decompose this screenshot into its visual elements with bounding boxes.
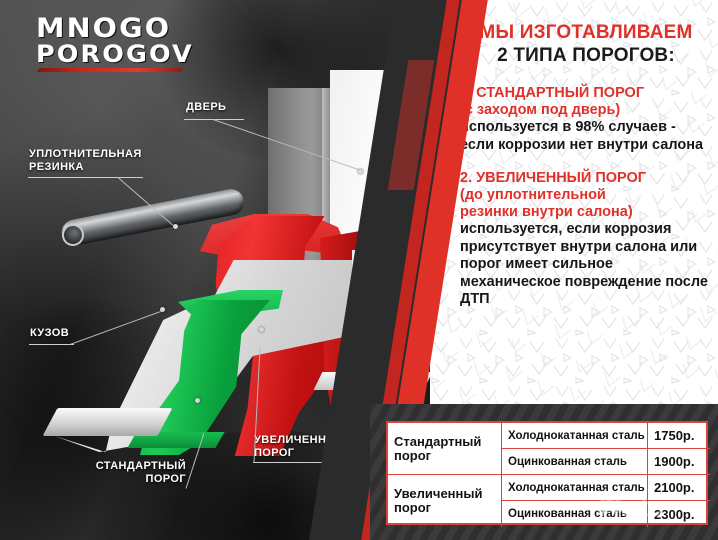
sill-type-block-1: 1. СТАНДАРТНЫЙ ПОРОГ (с заходом под двер… — [460, 85, 712, 154]
callout-body-underline — [29, 344, 74, 345]
price-table-cell-material: Оцинкованная сталь — [502, 449, 648, 475]
price-table-cell-material: Холоднокатанная сталь — [502, 475, 648, 501]
body-lip-shape — [43, 408, 173, 436]
price-table-cell-price: 2100р. — [648, 475, 710, 501]
watermark-dots-icon — [596, 500, 626, 518]
sill-type-1-body: используется в 98% случаев - если корроз… — [460, 119, 712, 154]
price-table: Стандартный порог Холоднокатанная сталь … — [386, 421, 708, 525]
sill-type-1-title: 1. СТАНДАРТНЫЙ ПОРОГ — [460, 85, 712, 102]
price-table-cell-price: 1900р. — [648, 449, 710, 475]
callout-door-label: ДВЕРЬ — [186, 101, 226, 114]
sill-type-1-subtitle: (с заходом под дверь) — [460, 102, 712, 119]
brand-logo-line1: MNOGO — [36, 16, 194, 42]
price-table-row-group-standard-name: Стандартный порог — [388, 423, 502, 475]
price-table-cell-price: 1750р. — [648, 423, 710, 449]
callout-standard-sill-label: СТАНДАРТНЫЙ ПОРОГ — [92, 460, 186, 486]
sill-type-block-2: 2. УВЕЛИЧЕННЫЙ ПОРОГ (до уплотнительной … — [460, 170, 712, 309]
callout-seal-dot — [173, 224, 178, 229]
poster-root: ДВЕРЬ УПЛОТНИТЕЛЬНАЯ РЕЗИНКА КУЗОВ СТАНД… — [0, 0, 718, 540]
headline-line2: 2 ТИПА ПОРОГОВ: — [460, 44, 712, 67]
callout-door-dot — [358, 169, 363, 174]
sill-type-2-body: используется, если коррозия присутствует… — [460, 221, 712, 309]
brand-logo[interactable]: MNOGO POROGOV — [36, 16, 185, 72]
callout-seal-underline — [28, 177, 143, 178]
price-table-cell-material: Холоднокатанная сталь — [502, 423, 648, 449]
callout-body-label: КУЗОВ — [30, 327, 69, 340]
callout-enlarged-sill-dot — [259, 327, 264, 332]
callout-body-dot — [160, 307, 165, 312]
price-table-cell-price: 2300р. — [648, 501, 710, 527]
brand-logo-line2: POROGOV — [36, 42, 194, 66]
price-table-row-group-enlarged-name: Увеличенный порог — [388, 475, 502, 527]
callout-standard-sill-dot — [195, 398, 200, 403]
price-table-cell-material: Оцинкованная сталь — [502, 501, 648, 527]
headline-line1: МЫ ИЗГОТАВЛИВАЕМ — [460, 22, 712, 44]
callout-seal-label: УПЛОТНИТЕЛЬНАЯ РЕЗИНКА — [29, 148, 142, 174]
sill-type-2-title: 2. УВЕЛИЧЕННЫЙ ПОРОГ — [460, 170, 712, 187]
brand-logo-accent-slash — [37, 68, 183, 72]
info-panel-content: МЫ ИЗГОТАВЛИВАЕМ 2 ТИПА ПОРОГОВ: 1. СТАН… — [460, 22, 712, 309]
sill-type-2-subtitle-2: резинки внутри салона) — [460, 204, 712, 221]
sill-type-2-subtitle-1: (до уплотнительной — [460, 187, 712, 204]
